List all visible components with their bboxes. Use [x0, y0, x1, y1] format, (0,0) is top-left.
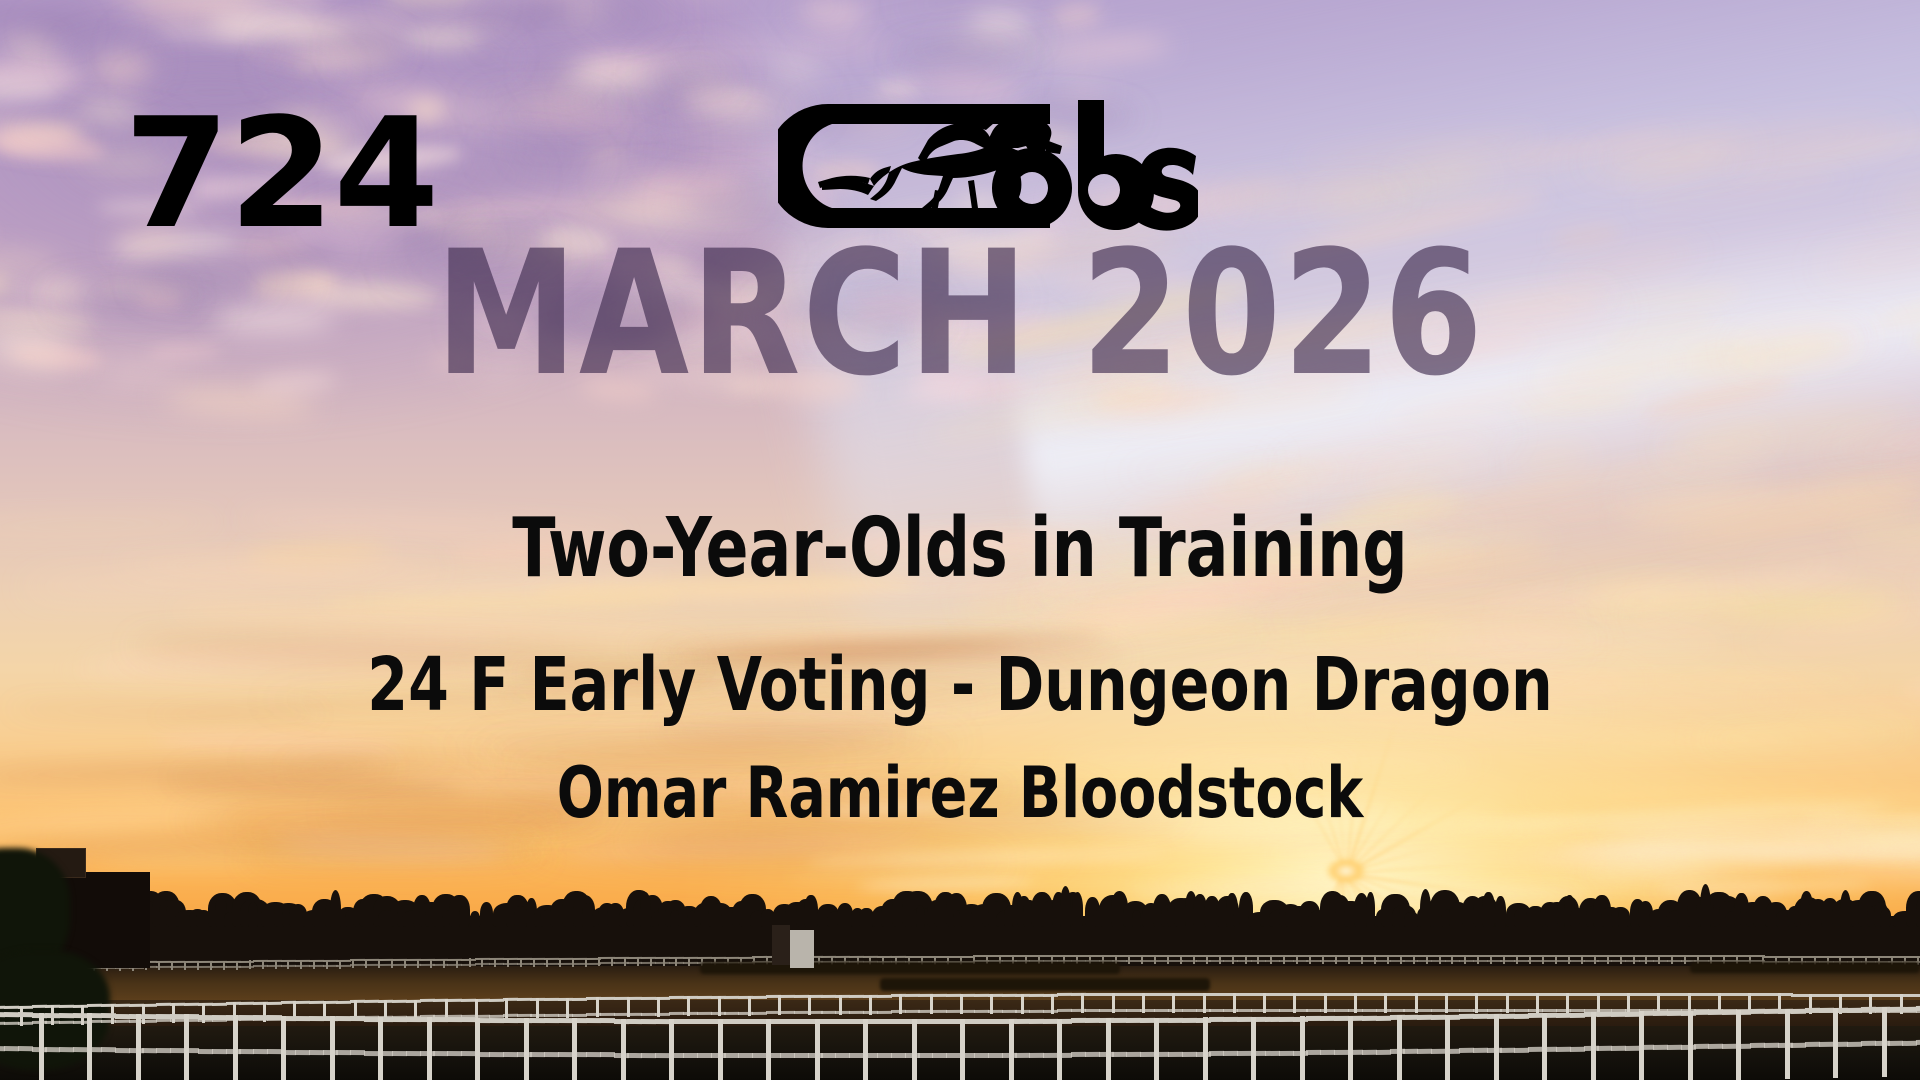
rail-bar: [392, 1000, 407, 1003]
rail-bar: [309, 1050, 324, 1055]
rail-bar: [1847, 956, 1862, 958]
rail-bar: [1071, 955, 1086, 957]
rail-bar: [1764, 1043, 1779, 1048]
rail-bar: [1362, 1050, 1377, 1055]
rail-bar: [1764, 1009, 1779, 1014]
rail-post: [1503, 955, 1505, 964]
rail-bar: [1653, 993, 1668, 996]
rail-post: [1232, 955, 1234, 964]
catalog-card: 724 MARCH 2026 Two-Year-Olds in Training…: [0, 0, 1920, 1080]
rail-bar: [600, 1018, 615, 1023]
rail-post: [427, 1017, 432, 1080]
rail-post: [1591, 1012, 1596, 1080]
rail-post: [778, 995, 781, 1015]
rail-bar: [18, 1012, 33, 1017]
rail-post: [1374, 955, 1376, 964]
rail-bar: [406, 999, 421, 1002]
rail-post: [687, 996, 690, 1016]
rail-bar: [1459, 1014, 1474, 1019]
rail-post: [481, 958, 483, 967]
rail-bar: [600, 1052, 615, 1057]
rail-post: [1594, 955, 1596, 964]
rail-post: [598, 957, 600, 966]
rail-bar: [891, 1019, 906, 1024]
rail-bar: [877, 1019, 892, 1024]
rail-post: [1566, 993, 1569, 1013]
rail-bar: [1473, 1048, 1488, 1053]
rail-bar: [1750, 1043, 1765, 1048]
rail-bar: [1279, 993, 1294, 996]
rail-post: [524, 1018, 529, 1080]
rail-post: [1415, 993, 1418, 1013]
rail-post: [637, 957, 639, 966]
rail-bar: [683, 1019, 698, 1024]
rail-bar: [1667, 955, 1682, 957]
rail-post: [1384, 993, 1387, 1013]
rail-bar: [115, 1004, 130, 1007]
rail-bar: [697, 1053, 712, 1058]
rail-post: [507, 958, 509, 967]
rail-bar: [295, 1050, 310, 1055]
rail-bar: [1653, 955, 1668, 957]
rail-post: [611, 957, 613, 966]
rail-bar: [1265, 1017, 1280, 1022]
rail-post: [546, 958, 548, 967]
rail-post: [1413, 955, 1415, 964]
rail-post: [1219, 955, 1221, 964]
rail-post: [572, 958, 574, 967]
rail-post: [627, 997, 630, 1017]
rail-post: [1475, 993, 1478, 1013]
rail-post: [1167, 955, 1169, 964]
rail-post: [1112, 993, 1115, 1013]
tall-pine: [1840, 890, 1851, 928]
rail-bar: [794, 1019, 809, 1024]
rail-bar: [1182, 1009, 1197, 1012]
rail-post: [1203, 1017, 1208, 1080]
rail-bar: [683, 957, 698, 959]
rail-post: [869, 995, 872, 1015]
rail-post: [663, 957, 665, 966]
tree-crown: [470, 911, 481, 927]
rail-bar: [4, 1046, 19, 1051]
rail-post: [391, 959, 393, 968]
rail-bar: [1265, 960, 1280, 962]
rail-post: [1688, 1011, 1693, 1080]
rail-bar: [1071, 1018, 1086, 1023]
rail-bar: [295, 960, 310, 962]
rail-bar: [1861, 994, 1876, 997]
rail-post: [1081, 993, 1084, 1013]
rail-post: [313, 960, 315, 969]
sale-month-heading: MARCH 2026: [77, 228, 1843, 400]
rail-bar: [1653, 960, 1668, 962]
rail-bar: [1653, 1011, 1668, 1016]
rail-post: [815, 1019, 820, 1080]
rail-post: [494, 958, 496, 967]
rail-post: [1445, 1015, 1450, 1080]
rail-bar: [697, 1019, 712, 1024]
rail-bar: [988, 1053, 1003, 1058]
rail-bar: [1071, 1052, 1086, 1057]
rail-post: [1477, 955, 1479, 964]
equipment-post: [772, 925, 790, 965]
rail-bar: [392, 1017, 407, 1022]
rail-bar: [1459, 1009, 1474, 1012]
rail-post: [365, 959, 367, 968]
rail-post: [572, 1018, 577, 1080]
rail-bar: [683, 996, 698, 999]
tall-pine: [1700, 884, 1711, 928]
rail-bar: [503, 958, 518, 960]
rail-post: [1439, 955, 1441, 964]
rail-bar: [1847, 994, 1862, 997]
rail-bar: [697, 1012, 712, 1015]
rail-post: [184, 961, 186, 970]
rail-bar: [697, 996, 712, 999]
rail-post: [533, 958, 535, 967]
rail-bar: [1085, 955, 1100, 957]
rail-post: [417, 959, 419, 968]
rail-post: [1348, 955, 1350, 964]
rail-bar: [1182, 993, 1197, 996]
rail-post: [766, 1019, 771, 1080]
rail-bar: [1459, 1048, 1474, 1053]
rail-bar: [503, 1052, 518, 1057]
rail-bar: [780, 995, 795, 998]
rail-post: [184, 1014, 189, 1080]
rail-post: [1009, 1019, 1014, 1080]
rail-bar: [406, 1017, 421, 1022]
consignor-name: Omar Ramirez Bloodstock: [115, 758, 1805, 828]
rail-bar: [1362, 993, 1377, 996]
rail-post: [624, 957, 626, 966]
rail-post: [566, 998, 569, 1018]
rail-post: [1180, 955, 1182, 964]
rail-post: [1397, 1015, 1402, 1080]
rail-post: [287, 960, 289, 969]
rail-bar: [683, 962, 698, 964]
rail-bar: [1168, 1009, 1183, 1012]
horse-pedigree-line: 24 F Early Voting - Dungeon Dragon: [115, 648, 1805, 722]
rail-bar: [794, 1053, 809, 1058]
rail-bar: [1265, 1051, 1280, 1056]
rail-post: [210, 961, 212, 970]
rail-post: [158, 961, 160, 970]
rail-bar: [1362, 1009, 1377, 1012]
rail-post: [839, 995, 842, 1015]
rail-bar: [198, 1015, 213, 1020]
rail-bar: [891, 1053, 906, 1058]
rail-post: [1361, 955, 1363, 964]
rail-bar: [1362, 1016, 1377, 1021]
rail-post: [1257, 955, 1259, 964]
rail-post: [1882, 1007, 1887, 1077]
rail-post: [505, 998, 508, 1018]
rail-post: [1494, 1014, 1499, 1080]
rail-bar: [1861, 1041, 1876, 1046]
rail-post: [1536, 993, 1539, 1013]
rail-bar: [891, 956, 906, 958]
rail-bar: [1279, 1017, 1294, 1022]
rail-bar: [1168, 1018, 1183, 1023]
rail-bar: [1459, 960, 1474, 962]
rail-bar: [1473, 1014, 1488, 1019]
rail-bar: [586, 1052, 601, 1057]
rail-bar: [794, 995, 809, 998]
rail-bar: [974, 994, 989, 997]
rail-bar: [1279, 960, 1294, 962]
rail-post: [1607, 955, 1609, 964]
rail-bar: [988, 1019, 1003, 1024]
rail-bar: [115, 1014, 130, 1019]
rail-post: [1154, 1018, 1159, 1080]
rail-bar: [1459, 955, 1474, 957]
rail-bar: [600, 1013, 615, 1016]
rail-post: [863, 1019, 868, 1080]
rail-post: [585, 958, 587, 967]
rail-post: [675, 957, 677, 966]
rail-bar: [974, 1019, 989, 1024]
rail-post: [1141, 955, 1143, 964]
rail-post: [1785, 1009, 1790, 1079]
rail-bar: [1376, 1009, 1391, 1012]
rail-post: [1597, 993, 1600, 1013]
rail-post: [1464, 955, 1466, 964]
rail-bar: [877, 956, 892, 958]
rail-bar: [877, 1010, 892, 1013]
tree-crown: [248, 902, 258, 927]
rail-post: [1426, 955, 1428, 964]
rail-post: [456, 959, 458, 968]
rail-post: [1581, 955, 1583, 964]
rail-bar: [1916, 1040, 1920, 1045]
rail-bar: [309, 965, 324, 967]
rail-bar: [309, 1016, 324, 1021]
rail-post: [378, 1017, 383, 1080]
rail-bar: [1168, 1052, 1183, 1057]
rail-post: [718, 1019, 723, 1080]
rail-post: [1193, 955, 1195, 964]
rail-bar: [1667, 1011, 1682, 1016]
rail-post: [233, 1015, 238, 1080]
rail-post: [1245, 955, 1247, 964]
rail-post: [1639, 1011, 1644, 1080]
rail-bar: [974, 1053, 989, 1058]
rail-bar: [1376, 1015, 1391, 1020]
tall-pine: [1420, 889, 1431, 928]
rail-post: [520, 958, 522, 967]
rail-bar: [683, 1053, 698, 1058]
rail-bar: [1861, 956, 1876, 958]
rail-post: [1542, 1013, 1547, 1080]
rail-post: [1658, 955, 1660, 964]
rail-post: [930, 994, 933, 1014]
tall-pine: [640, 892, 651, 928]
rail-post: [475, 1018, 480, 1080]
rail-post: [1293, 993, 1296, 1013]
rail-post: [1300, 1016, 1305, 1080]
sale-subtitle: Two-Year-Olds in Training: [134, 508, 1785, 590]
rail-post: [559, 958, 561, 967]
infield-hedge: [880, 978, 1210, 991]
rail-bar: [4, 1006, 19, 1009]
rail-bar: [1667, 1045, 1682, 1050]
tree-crown: [1072, 892, 1084, 927]
rail-post: [1529, 955, 1531, 964]
rail-bar: [1376, 1049, 1391, 1054]
rail-bar: [1764, 993, 1779, 996]
rail-post: [469, 958, 471, 967]
tree-crown: [1132, 910, 1142, 927]
rail-post: [281, 1016, 286, 1080]
rail-bar: [586, 1018, 601, 1023]
rail-bar: [1667, 993, 1682, 996]
rail-post: [1296, 955, 1298, 964]
rail-bar: [1653, 1045, 1668, 1050]
rail-bar: [406, 1051, 421, 1056]
rail-post: [39, 1013, 44, 1080]
rail-post: [960, 994, 963, 1014]
rail-post: [1833, 1008, 1838, 1078]
rail-post: [1736, 1010, 1741, 1080]
rail-post: [657, 997, 660, 1017]
rail-post: [236, 961, 238, 970]
rail-bar: [18, 1046, 33, 1051]
rail-bar: [1182, 1018, 1197, 1023]
tree-crown: [1618, 909, 1628, 927]
rail-post: [1354, 993, 1357, 1013]
rail-bar: [1570, 1012, 1585, 1017]
rail-post: [475, 999, 478, 1019]
rail-post: [326, 960, 328, 969]
tall-pine: [330, 890, 341, 928]
rail-post: [1451, 955, 1453, 964]
rail-bar: [600, 997, 615, 1000]
rail-post: [1128, 955, 1130, 964]
rail-post: [1154, 955, 1156, 964]
rail-bar: [212, 1015, 227, 1020]
rail-post: [352, 959, 354, 968]
rail-bar: [1085, 1009, 1100, 1012]
rail-post: [1542, 955, 1544, 964]
rail-bar: [1265, 993, 1280, 996]
rail-bar: [1916, 994, 1920, 997]
rail-post: [621, 1019, 626, 1080]
rail-bar: [1473, 955, 1488, 957]
rail-post: [330, 1016, 335, 1080]
rail-post: [899, 994, 902, 1014]
rail-bar: [1085, 1018, 1100, 1023]
rail-bar: [1279, 1051, 1294, 1056]
rail-bar: [309, 960, 324, 962]
rail-post: [1506, 993, 1509, 1013]
rail-post: [808, 995, 811, 1015]
rail-bar: [1376, 993, 1391, 996]
rail-bar: [877, 1053, 892, 1058]
rail-bar: [503, 963, 518, 965]
rail-bar: [1556, 1047, 1571, 1052]
rail-post: [1106, 1018, 1111, 1080]
rail-bar: [877, 994, 892, 997]
rail-bar: [1667, 960, 1682, 962]
equipment-box: [790, 930, 814, 968]
rail-bar: [780, 1011, 795, 1014]
rail-bar: [697, 957, 712, 959]
rail-bar: [503, 1018, 518, 1023]
infield-hedge: [700, 962, 1120, 974]
tree-crown: [1482, 892, 1495, 927]
rail-post: [1203, 993, 1206, 1013]
rail-bar: [1750, 993, 1765, 996]
rail-post: [443, 959, 445, 968]
rail-bar: [1916, 1006, 1920, 1011]
rail-post: [1251, 1017, 1256, 1080]
rail-post: [275, 960, 277, 969]
rail-bar: [1750, 1009, 1765, 1014]
rail-post: [1057, 1019, 1062, 1080]
rail-post: [87, 1013, 92, 1080]
rail-post: [262, 960, 264, 969]
rail-bar: [212, 1049, 227, 1054]
rail-bar: [1459, 993, 1474, 996]
rail-post: [1633, 955, 1635, 964]
rail-bar: [1182, 1052, 1197, 1057]
rail-bar: [295, 965, 310, 967]
tree-crown: [804, 895, 818, 927]
rail-bar: [489, 1052, 504, 1057]
rail-bar: [115, 1048, 130, 1053]
tree-crown: [1495, 896, 1506, 927]
rail-bar: [1847, 1007, 1862, 1012]
rail-bar: [1168, 993, 1183, 996]
infield-hedge: [1690, 962, 1920, 973]
rail-post: [197, 961, 199, 970]
rail-post: [990, 994, 993, 1014]
rail-post: [1620, 955, 1622, 964]
rail-post: [912, 1019, 917, 1080]
rail-bar: [1473, 960, 1488, 962]
rail-post: [688, 957, 690, 966]
rail-post: [1335, 955, 1337, 964]
rail-bar: [1085, 1052, 1100, 1057]
rail-bar: [683, 1012, 698, 1015]
rail-post: [136, 1014, 141, 1080]
rail-post: [378, 959, 380, 968]
rail-post: [748, 996, 751, 1016]
rail-bar: [974, 1010, 989, 1013]
rail-post: [1051, 994, 1054, 1014]
rail-post: [1021, 994, 1024, 1014]
rail-post: [1270, 955, 1272, 964]
rail-post: [1516, 955, 1518, 964]
rail-post: [960, 1019, 965, 1080]
rail-post: [1645, 955, 1647, 964]
rail-post: [430, 959, 432, 968]
rail-post: [596, 997, 599, 1017]
rail-post: [1684, 955, 1686, 964]
rail-post: [1322, 955, 1324, 964]
rail-bar: [1570, 1009, 1585, 1012]
tree-crown: [1366, 892, 1375, 927]
rail-post: [171, 961, 173, 970]
rail-post: [1445, 993, 1448, 1013]
rail-bar: [794, 1011, 809, 1014]
rail-bar: [198, 1002, 213, 1005]
rail-bar: [1570, 1046, 1585, 1051]
rail-post: [1348, 1016, 1353, 1080]
rail-post: [339, 960, 341, 969]
